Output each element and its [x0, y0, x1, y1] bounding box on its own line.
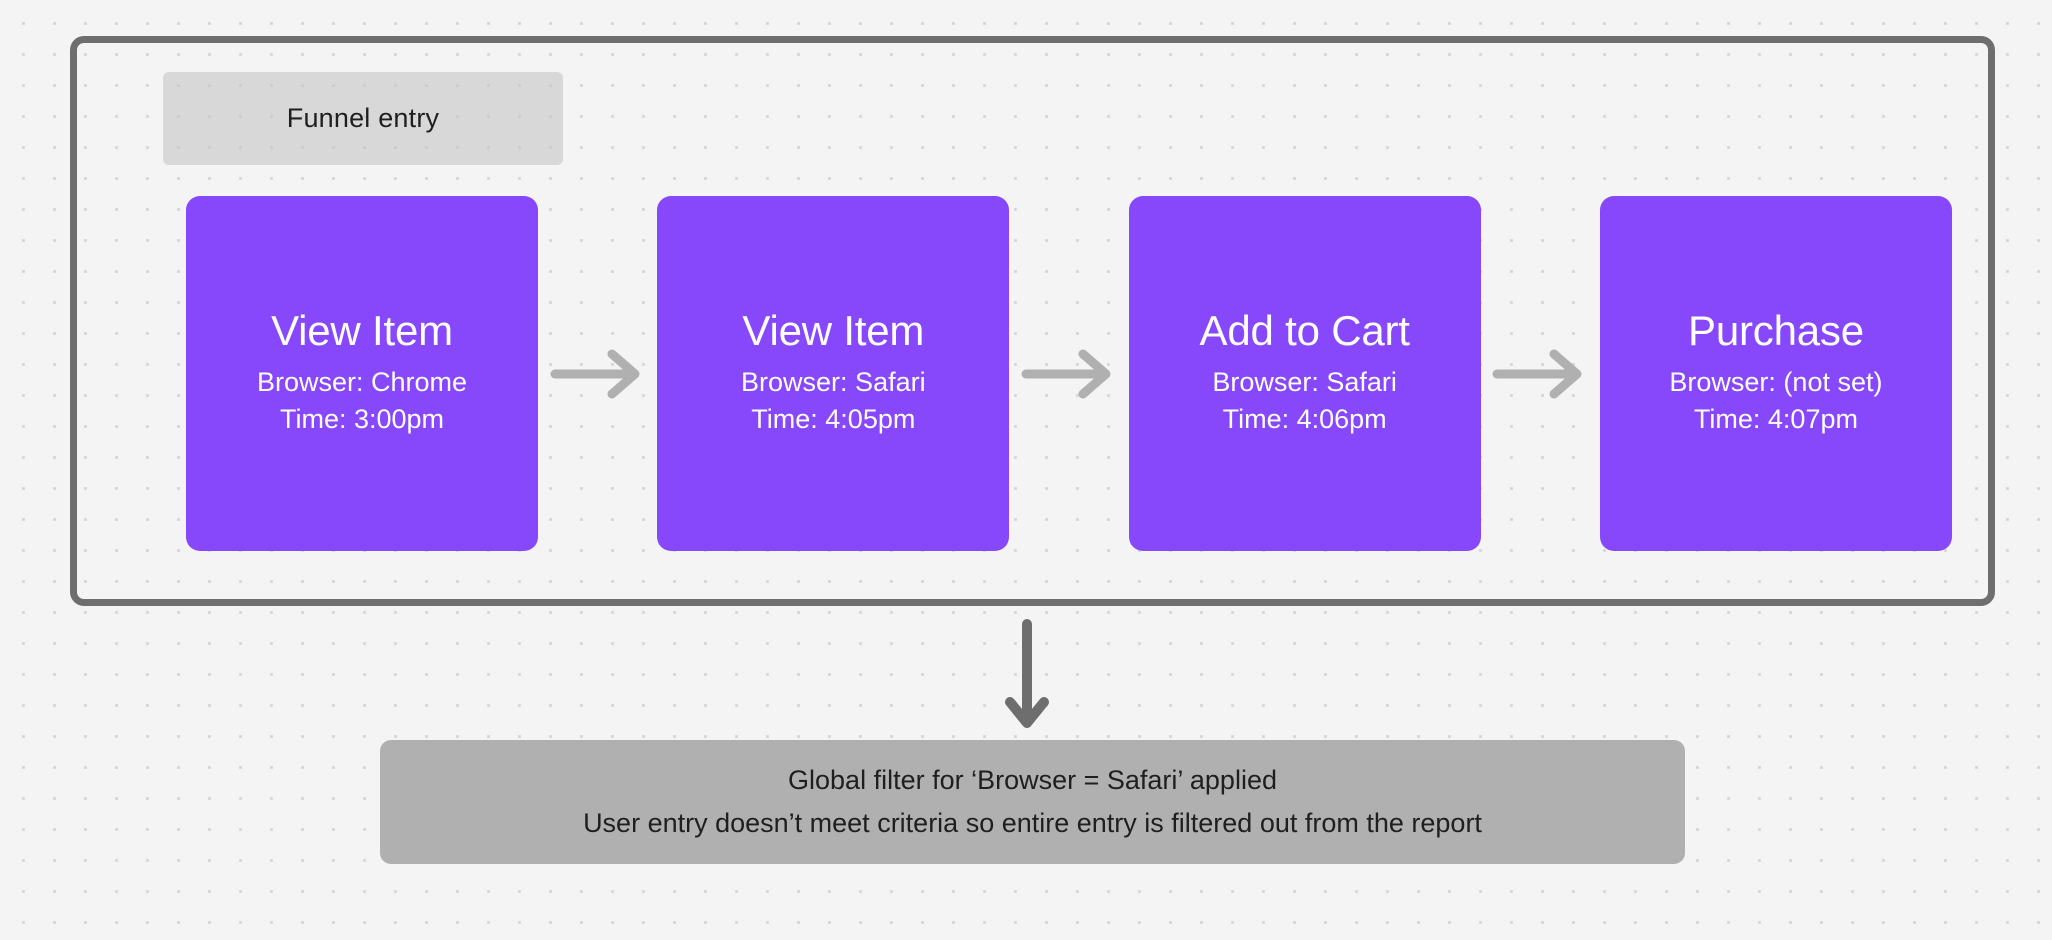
funnel-entry-label-text: Funnel entry: [287, 103, 439, 134]
step-title: Add to Cart: [1200, 309, 1410, 353]
filter-banner-line-1: Global filter for ‘Browser = Safari’ app…: [788, 759, 1277, 802]
global-filter-banner: Global filter for ‘Browser = Safari’ app…: [380, 740, 1685, 864]
funnel-entry-label-chip: Funnel entry: [163, 72, 563, 165]
step-title: Purchase: [1688, 309, 1864, 353]
step-browser: Browser: Chrome: [257, 364, 467, 401]
step-browser: Browser: (not set): [1669, 364, 1882, 401]
arrow-right-icon-2: [1021, 346, 1117, 402]
step-time: Time: 4:05pm: [751, 401, 915, 438]
step-time: Time: 4:07pm: [1694, 401, 1858, 438]
arrow-down-icon: [1005, 618, 1049, 734]
step-card-add-to-cart[interactable]: Add to Cart Browser: Safari Time: 4:06pm: [1129, 196, 1481, 551]
step-title: View Item: [271, 309, 453, 353]
step-time: Time: 3:00pm: [280, 401, 444, 438]
funnel-steps-row: View Item Browser: Chrome Time: 3:00pm V…: [186, 196, 1952, 551]
step-browser: Browser: Safari: [741, 364, 926, 401]
step-browser: Browser: Safari: [1212, 364, 1397, 401]
filter-banner-line-2: User entry doesn’t meet criteria so enti…: [583, 802, 1482, 845]
step-card-view-item-chrome[interactable]: View Item Browser: Chrome Time: 3:00pm: [186, 196, 538, 551]
step-title: View Item: [742, 309, 924, 353]
step-card-view-item-safari[interactable]: View Item Browser: Safari Time: 4:05pm: [657, 196, 1009, 551]
step-time: Time: 4:06pm: [1223, 401, 1387, 438]
step-card-purchase[interactable]: Purchase Browser: (not set) Time: 4:07pm: [1600, 196, 1952, 551]
arrow-right-icon-3: [1492, 346, 1588, 402]
diagram-canvas: Funnel entry View Item Browser: Chrome T…: [0, 0, 2052, 940]
arrow-right-icon-1: [550, 346, 646, 402]
